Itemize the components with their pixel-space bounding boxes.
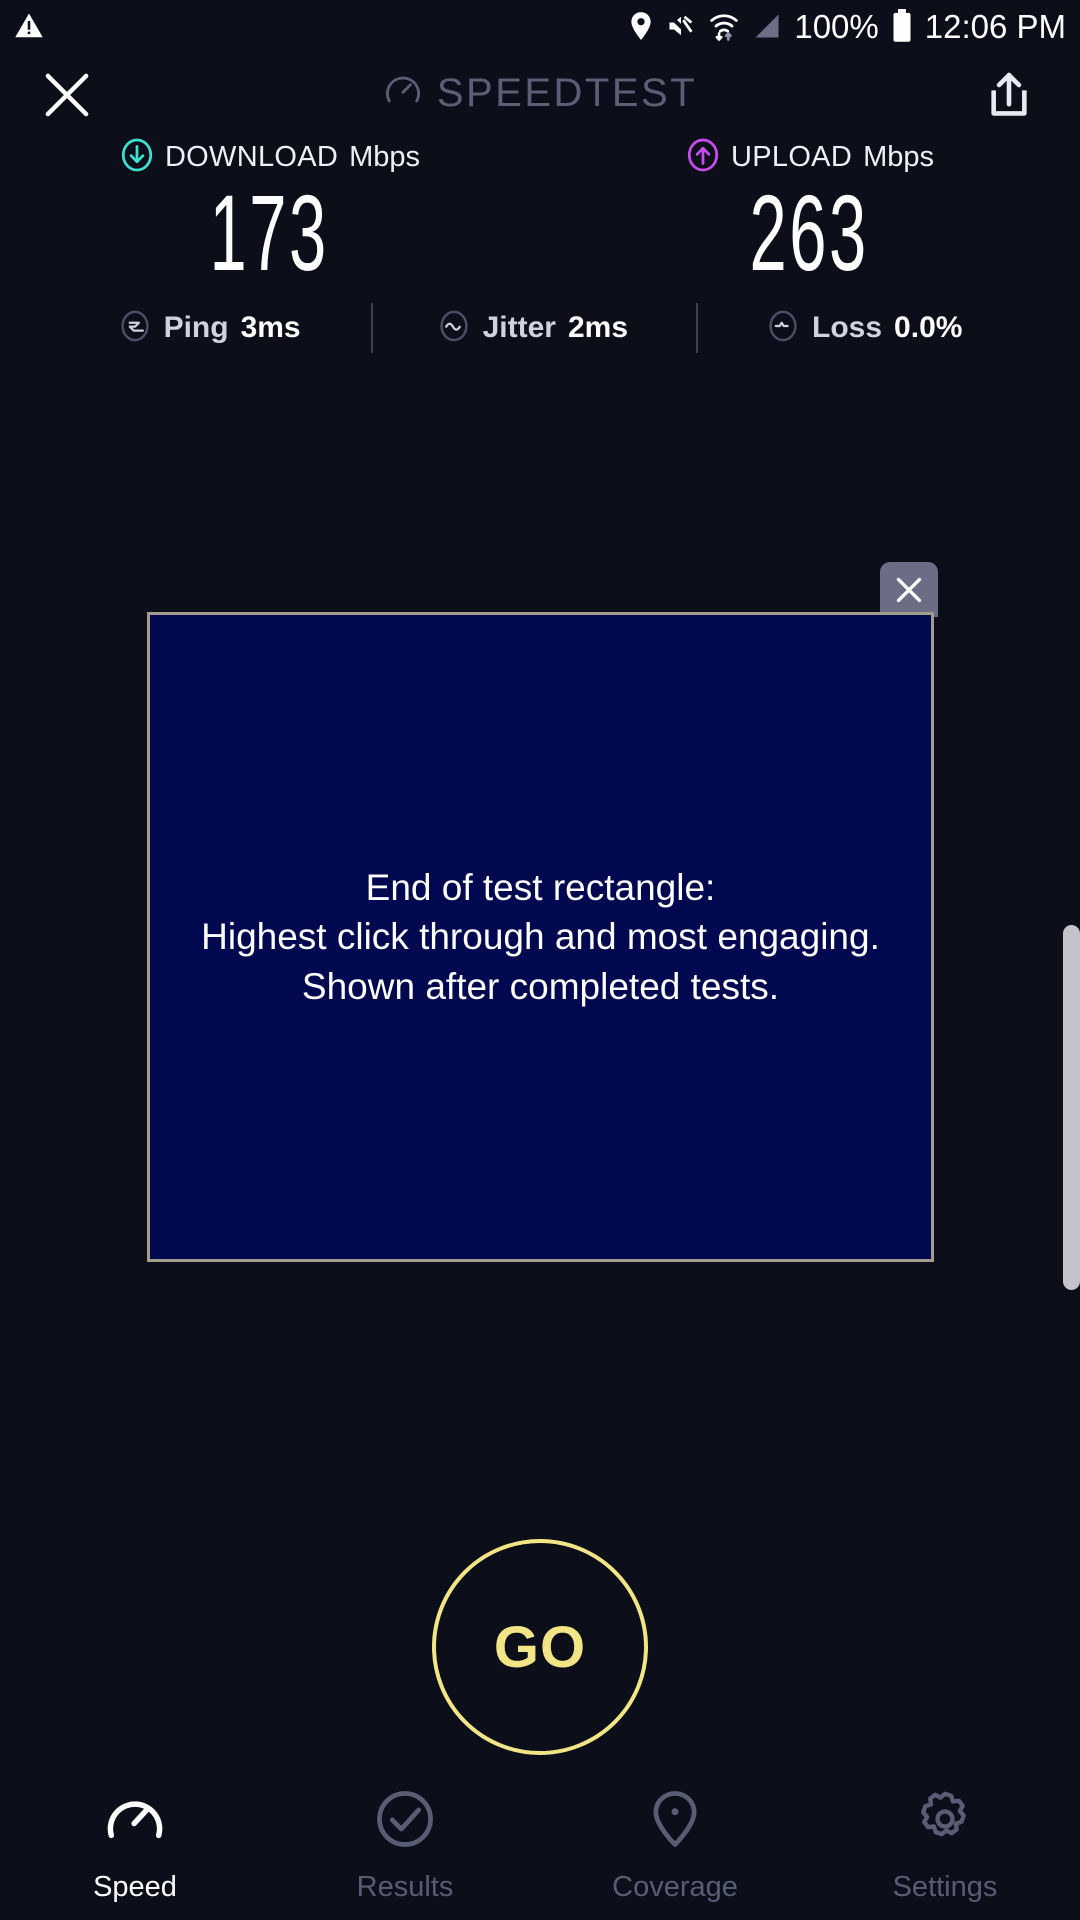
download-label: DOWNLOAD — [165, 141, 338, 174]
upload-unit: Mbps — [863, 141, 934, 174]
battery-full-icon — [891, 9, 913, 43]
cellular-signal-icon — [752, 11, 782, 41]
download-value: 173 — [209, 179, 328, 287]
test-results: DOWNLOAD Mbps 173 UPLOAD Mbps — [0, 138, 1080, 353]
close-icon[interactable] — [36, 64, 98, 126]
nav-label-coverage: Coverage — [612, 1871, 738, 1904]
ping-value: 3ms — [241, 311, 301, 345]
ad-banner[interactable]: End of test rectangle: Highest click thr… — [147, 612, 934, 1262]
upload-value: 263 — [749, 179, 868, 287]
nav-label-speed: Speed — [93, 1871, 177, 1904]
wifi-transfer-icon — [708, 10, 740, 42]
gear-icon — [914, 1788, 976, 1855]
speedometer-icon — [104, 1788, 166, 1855]
app-bar: SPEEDTEST — [0, 52, 1080, 134]
download-metric: DOWNLOAD Mbps 173 — [0, 138, 540, 287]
nav-item-speed[interactable]: Speed — [0, 1772, 270, 1920]
nav-item-coverage[interactable]: Coverage — [540, 1772, 810, 1920]
app-brand: SPEEDTEST — [0, 52, 1080, 134]
divider-1 — [371, 303, 373, 353]
ad-text-line-2: Highest click through and most engaging. — [201, 912, 880, 961]
nav-item-results[interactable]: Results — [270, 1772, 540, 1920]
loss-icon — [766, 309, 800, 348]
jitter-icon — [437, 309, 471, 348]
bottom-navigation: Speed Results Coverage — [0, 1772, 1080, 1920]
upload-label: UPLOAD — [731, 141, 852, 174]
ping-icon — [118, 309, 152, 348]
clock-label: 12:06 PM — [925, 10, 1066, 43]
arrow-up-circle-icon — [686, 138, 720, 177]
close-icon — [892, 573, 926, 607]
upload-metric: UPLOAD Mbps 263 — [540, 138, 1080, 287]
ad-text: End of test rectangle: Highest click thr… — [179, 863, 902, 1011]
check-circle-icon — [374, 1788, 436, 1855]
go-button[interactable]: GO — [432, 1539, 648, 1755]
warning-triangle-icon — [14, 11, 44, 41]
scrollbar-thumb[interactable] — [1063, 925, 1080, 1290]
ping-jitter-loss-row: Ping 3ms Jitter 2ms — [0, 303, 1080, 353]
jitter-value: 2ms — [568, 311, 628, 345]
advertisement-container[interactable]: End of test rectangle: Highest click thr… — [147, 612, 934, 1262]
location-pin-icon — [644, 1788, 706, 1855]
status-bar-right: 100% 12:06 PM — [628, 9, 1066, 43]
ping-metric: Ping 3ms — [118, 309, 301, 348]
ping-label: Ping — [164, 311, 229, 345]
arrow-down-circle-icon — [120, 138, 154, 177]
ad-close-button[interactable] — [880, 562, 938, 617]
nav-label-results: Results — [357, 1871, 454, 1904]
ad-text-line-1: End of test rectangle: — [201, 863, 880, 912]
battery-percent-label: 100% — [794, 10, 878, 43]
nav-label-settings: Settings — [893, 1871, 998, 1904]
page-title: SPEEDTEST — [437, 71, 697, 116]
ad-text-line-3: Shown after completed tests. — [201, 962, 880, 1011]
jitter-metric: Jitter 2ms — [437, 309, 628, 348]
loss-value: 0.0% — [894, 311, 962, 345]
download-upload-row: DOWNLOAD Mbps 173 UPLOAD Mbps — [0, 138, 1080, 287]
jitter-label: Jitter — [483, 311, 556, 345]
loss-metric: Loss 0.0% — [766, 309, 962, 348]
speedtest-app-screen: 100% 12:06 PM SPEEDTEST — [0, 0, 1080, 1920]
share-icon[interactable] — [980, 64, 1038, 126]
loss-label: Loss — [812, 311, 882, 345]
divider-2 — [696, 303, 698, 353]
go-button-label: GO — [494, 1614, 586, 1681]
download-unit: Mbps — [349, 141, 420, 174]
nav-item-settings[interactable]: Settings — [810, 1772, 1080, 1920]
location-pin-icon — [628, 11, 654, 41]
speedometer-icon — [383, 71, 423, 116]
volume-muted-icon — [666, 11, 696, 41]
status-bar: 100% 12:06 PM — [0, 0, 1080, 52]
status-bar-left — [14, 11, 44, 41]
